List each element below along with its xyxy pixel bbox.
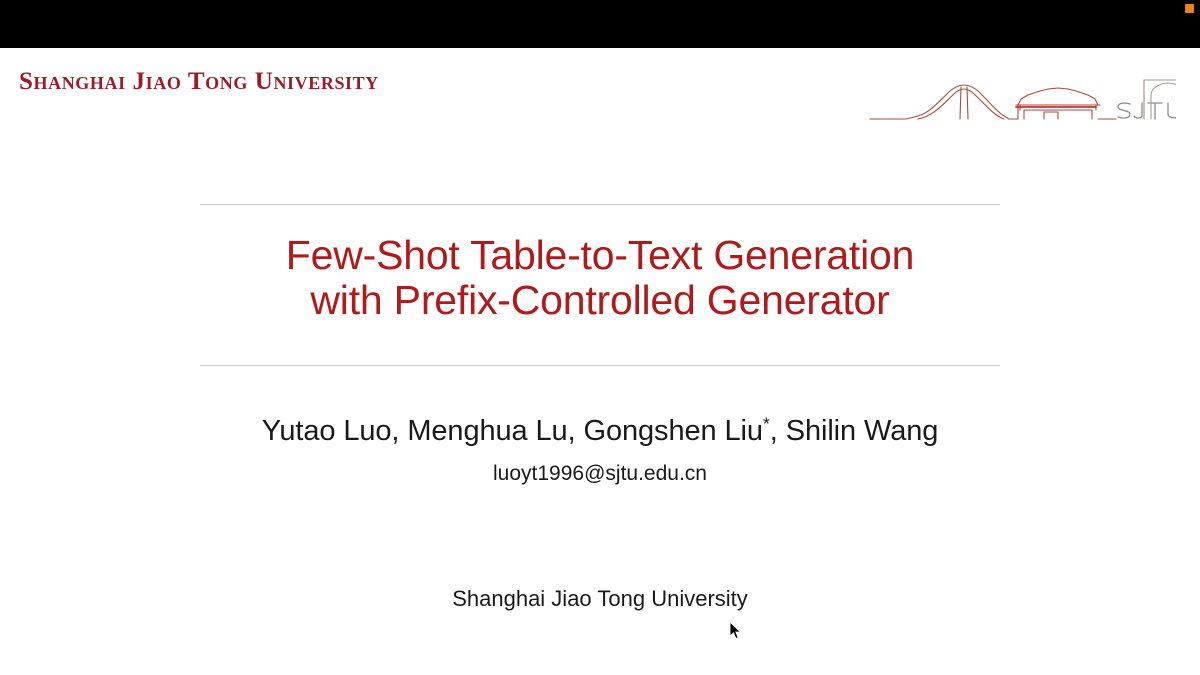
corresponding-author-mark: * [763, 413, 770, 433]
sjtu-logo [868, 62, 1176, 132]
title-line-1: Few-Shot Table-to-Text Generation [100, 233, 1100, 278]
letterbox-bar-top [0, 0, 1200, 48]
presentation-slide: Shanghai Jiao Tong University [0, 0, 1200, 675]
page-title: Few-Shot Table-to-Text Generation with P… [100, 233, 1100, 323]
university-wordmark: Shanghai Jiao Tong University [19, 68, 379, 96]
slide-surface: Shanghai Jiao Tong University [0, 48, 1200, 675]
arrow-pointer-icon [729, 621, 743, 641]
title-line-2: with Prefix-Controlled Generator [100, 278, 1100, 323]
author-list: Yutao Luo, Menghua Lu, Gongshen Liu*, Sh… [100, 415, 1100, 448]
contact-email: luoyt1996@sjtu.edu.cn [100, 462, 1100, 486]
title-rule-bottom [200, 365, 1000, 366]
title-rule-top [200, 204, 1000, 205]
author-names-primary: Yutao Luo, Menghua Lu, Gongshen Liu [262, 415, 763, 447]
affiliation-label: Shanghai Jiao Tong University [100, 586, 1100, 612]
recording-indicator-dot [1185, 4, 1194, 13]
author-names-secondary: , Shilin Wang [770, 415, 938, 447]
